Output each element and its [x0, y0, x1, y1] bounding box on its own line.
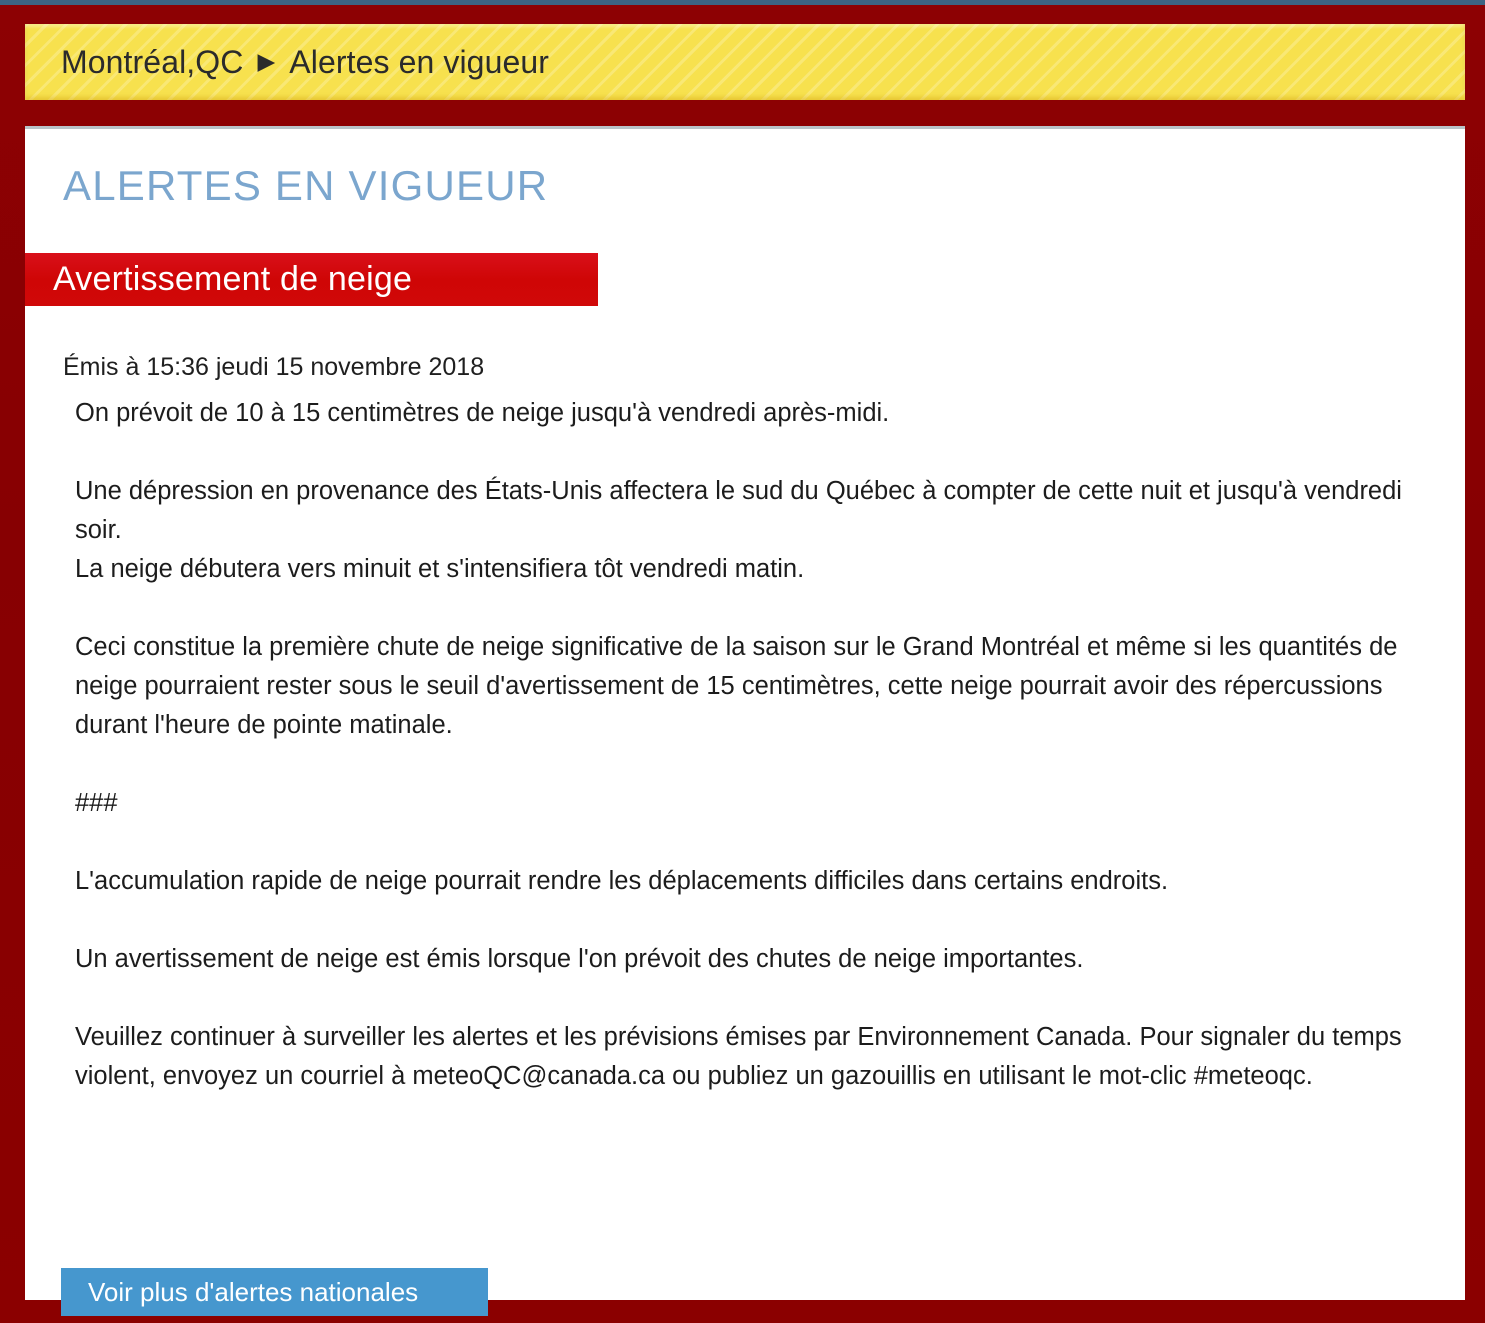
alert-paragraph: Un avertissement de neige est émis lorsq… — [63, 940, 1425, 979]
paragraph-spacer — [63, 745, 1425, 784]
page-title: ALERTES EN VIGUEUR — [25, 129, 1465, 209]
alert-paragraph: L'accumulation rapide de neige pourrait … — [63, 862, 1425, 901]
paragraph-spacer — [63, 901, 1425, 940]
alert-issued-timestamp: Émis à 15:36 jeudi 15 novembre 2018 — [63, 352, 1425, 383]
alert-content-panel: ALERTES EN VIGUEUR Avertissement de neig… — [25, 126, 1465, 1300]
paragraph-spacer — [63, 979, 1425, 1018]
chevron-right-icon: ▶ — [258, 50, 276, 73]
view-more-national-alerts-button[interactable]: Voir plus d'alertes nationales — [61, 1268, 488, 1316]
alert-separator-marker: ### — [63, 784, 1425, 823]
alert-body: Émis à 15:36 jeudi 15 novembre 2018 On p… — [25, 352, 1465, 1096]
alert-type-label: Avertissement de neige — [53, 260, 412, 299]
alert-paragraph: Ceci constitue la première chute de neig… — [63, 628, 1425, 745]
breadcrumb: Montréal,QC ▶ Alertes en vigueur — [61, 44, 549, 81]
alert-type-banner: Avertissement de neige — [25, 253, 598, 306]
paragraph-spacer — [63, 433, 1425, 472]
breadcrumb-bar: Montréal,QC ▶ Alertes en vigueur — [25, 24, 1465, 100]
alert-paragraph: Une dépression en provenance des États-U… — [63, 472, 1425, 589]
paragraph-spacer — [63, 589, 1425, 628]
alert-paragraph: Veuillez continuer à surveiller les aler… — [63, 1018, 1425, 1096]
breadcrumb-item-location[interactable]: Montréal,QC — [61, 44, 244, 81]
alert-paragraph: On prévoit de 10 à 15 centimètres de nei… — [63, 394, 1425, 433]
breadcrumb-item-current: Alertes en vigueur — [289, 44, 549, 81]
weather-alert-page: Montréal,QC ▶ Alertes en vigueur ALERTES… — [0, 0, 1485, 1323]
paragraph-spacer — [63, 823, 1425, 862]
